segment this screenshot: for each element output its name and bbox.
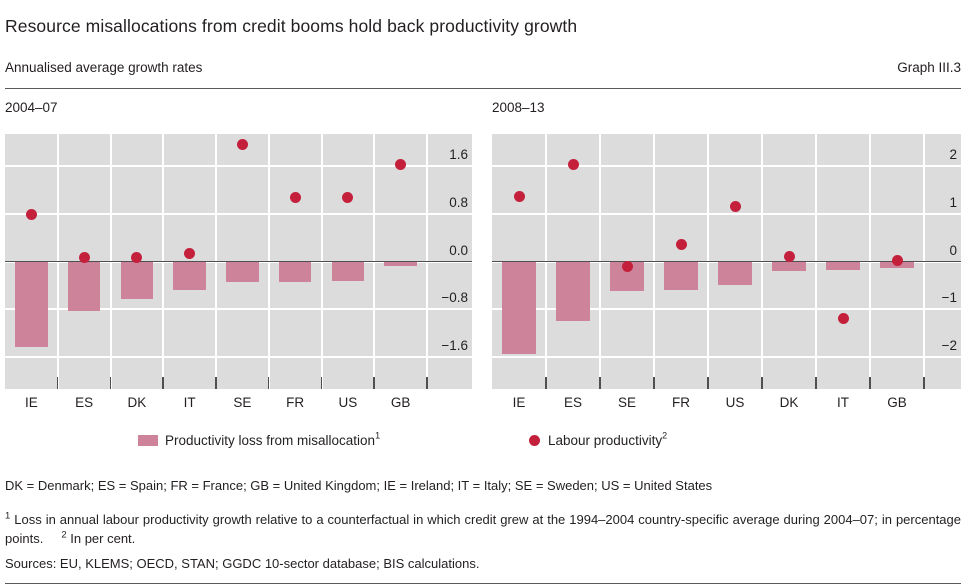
bar-es	[68, 262, 101, 311]
x-axis-label-se: SE	[600, 395, 654, 410]
dot-gb	[892, 255, 903, 266]
x-axis-tick	[545, 377, 547, 389]
x-axis-tick	[162, 377, 164, 389]
y-axis-tick-label: −0.8	[431, 290, 468, 305]
dot-fr	[290, 192, 301, 203]
x-axis-tick	[321, 377, 323, 389]
y-axis-tick-label: 2	[928, 147, 957, 162]
dot-se	[622, 261, 633, 272]
x-axis-label-gb: GB	[374, 395, 427, 410]
dot-it	[184, 248, 195, 259]
sources-note: Sources: EU, KLEMS; OECD, STAN; GGDC 10-…	[5, 556, 479, 571]
bar-it	[173, 262, 206, 291]
legend-item-labour-productivity: Labour productivity2	[525, 432, 667, 448]
plot-area-right: 210−1−2	[492, 134, 961, 389]
y-axis-tick-label: 1	[928, 195, 957, 210]
page-subtitle: Annualised average growth rates	[5, 60, 202, 75]
footnotes: 1 Loss in annual labour productivity gro…	[5, 510, 961, 548]
y-axis-tick-label: 0.0	[431, 243, 468, 258]
zero-axis-line	[5, 261, 472, 263]
bar-gb	[384, 262, 417, 267]
x-axis-label-us: US	[708, 395, 762, 410]
legend: Productivity loss from misallocation1 La…	[0, 432, 966, 452]
graph-number: Graph III.3	[897, 60, 961, 75]
x-axis-label-us: US	[322, 395, 375, 410]
x-axis-tick	[268, 377, 270, 389]
dot-dk	[784, 251, 795, 262]
dot-fr	[676, 239, 687, 250]
x-axis-label-es: ES	[546, 395, 600, 410]
abbreviation-note: DK = Denmark; ES = Spain; FR = France; G…	[5, 478, 712, 493]
y-axis-tick-label: −2	[928, 338, 957, 353]
dot-gb	[395, 159, 406, 170]
x-axis-tick	[923, 377, 925, 389]
legend-item-productivity-loss: Productivity loss from misallocation1	[138, 432, 380, 448]
x-axis-label-dk: DK	[111, 395, 164, 410]
bar-us	[332, 262, 365, 281]
x-axis-label-it: IT	[816, 395, 870, 410]
footnote-2-marker: 2	[61, 530, 66, 541]
x-axis-tick	[599, 377, 601, 389]
x-axis-label-it: IT	[163, 395, 216, 410]
plot-area-left: 1.60.80.0−0.8−1.6	[5, 134, 472, 389]
panel-title-left: 2004–07	[5, 100, 58, 115]
gridline-horizontal	[5, 213, 472, 215]
dot-se	[237, 139, 248, 150]
y-axis-tick-label: 0	[928, 243, 957, 258]
legend-bar-label: Productivity loss from misallocation	[165, 433, 375, 448]
dot-us	[730, 201, 741, 212]
dot-es	[79, 252, 90, 263]
dot-it	[838, 313, 849, 324]
x-axis-tick	[815, 377, 817, 389]
x-axis-label-fr: FR	[654, 395, 708, 410]
page-title: Resource misallocations from credit boom…	[5, 16, 577, 37]
legend-bar-swatch-icon	[138, 435, 158, 446]
panel-title-right: 2008–13	[492, 100, 545, 115]
gridline-horizontal	[5, 356, 472, 358]
y-axis-tick-label: −1.6	[431, 338, 468, 353]
x-axis-tick	[653, 377, 655, 389]
gridline-horizontal	[492, 213, 961, 215]
x-axis-label-gb: GB	[870, 395, 924, 410]
x-axis-tick	[869, 377, 871, 389]
gridline-horizontal	[492, 356, 961, 358]
x-axis-tick	[57, 377, 59, 389]
legend-dot-swatch-icon	[529, 435, 540, 446]
bar-dk	[772, 262, 805, 272]
header-divider	[5, 88, 961, 89]
bar-it	[826, 262, 859, 270]
dot-us	[342, 192, 353, 203]
dot-es	[568, 159, 579, 170]
footnote-1-text: Loss in annual labour productivity growt…	[5, 512, 961, 546]
y-axis-tick-label: 0.8	[431, 195, 468, 210]
x-axis-tick	[373, 377, 375, 389]
y-axis-tick-label: 1.6	[431, 147, 468, 162]
bar-us	[718, 262, 751, 286]
bar-es	[556, 262, 589, 322]
x-axis-label-fr: FR	[269, 395, 322, 410]
bar-fr	[664, 262, 697, 291]
x-axis-tick	[761, 377, 763, 389]
dot-ie	[26, 209, 37, 220]
bar-ie	[502, 262, 535, 354]
footnote-2-text: In per cent.	[70, 531, 135, 546]
gridline-horizontal	[492, 165, 961, 167]
x-axis-tick	[110, 377, 112, 389]
legend-bar-footnote-marker: 1	[375, 431, 380, 441]
x-axis-label-ie: IE	[492, 395, 546, 410]
x-axis-tick	[215, 377, 217, 389]
dot-ie	[514, 191, 525, 202]
footnote-1-marker: 1	[5, 511, 10, 522]
x-axis-label-ie: IE	[5, 395, 58, 410]
bar-ie	[15, 262, 48, 347]
bar-se	[226, 262, 259, 283]
footer-divider	[5, 583, 961, 584]
x-axis-label-dk: DK	[762, 395, 816, 410]
x-axis-tick	[426, 377, 428, 389]
zero-axis-line	[492, 261, 961, 263]
bar-dk	[121, 262, 154, 299]
legend-dot-label: Labour productivity	[548, 433, 662, 448]
x-axis-label-es: ES	[58, 395, 111, 410]
legend-dot-footnote-marker: 2	[662, 431, 667, 441]
bar-fr	[279, 262, 312, 282]
graph-page: Resource misallocations from credit boom…	[0, 0, 966, 588]
y-axis-tick-label: −1	[928, 290, 957, 305]
x-axis-tick	[707, 377, 709, 389]
x-axis-label-se: SE	[216, 395, 269, 410]
